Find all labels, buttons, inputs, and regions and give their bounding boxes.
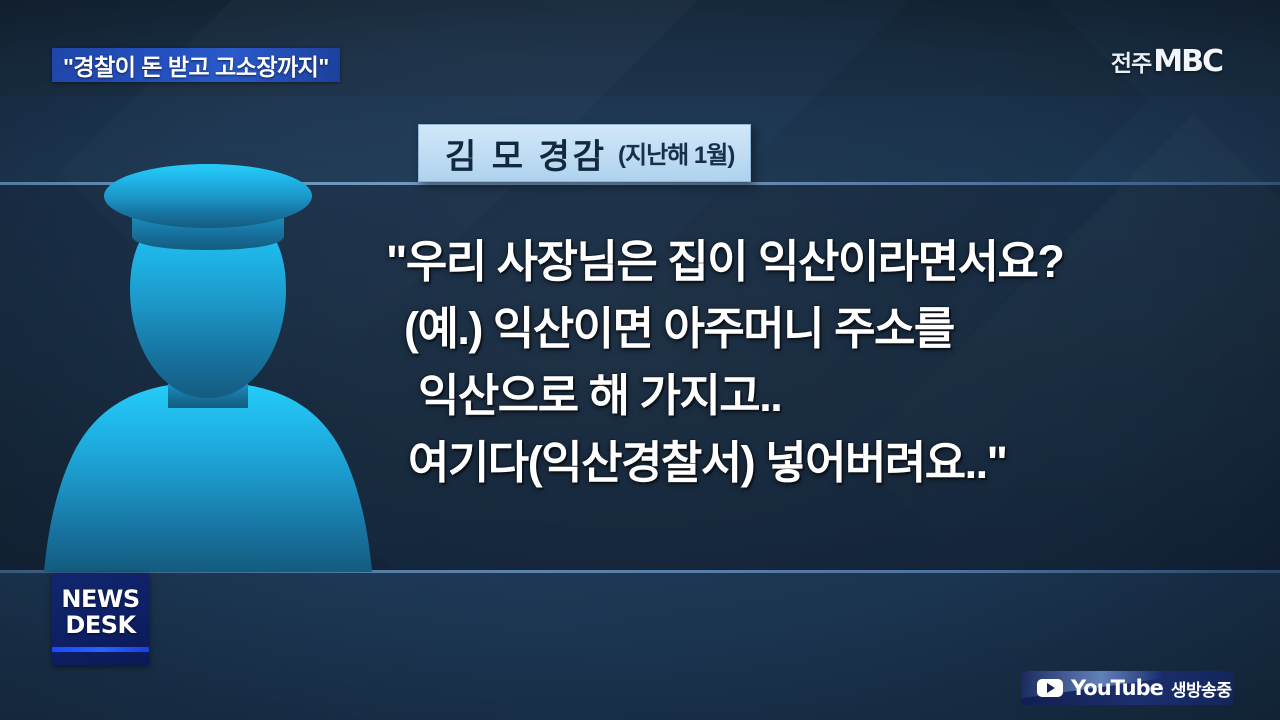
live-status-label: 생방송중 xyxy=(1171,676,1232,701)
newsdesk-logo-accent-bar xyxy=(52,647,149,652)
quote-line: 익산으로 해 가지고.. xyxy=(386,362,1266,429)
speaker-nameplate: 김 모 경감 (지난해 1월) xyxy=(418,124,751,182)
quote-line: "우리 사장님은 집이 익산이라면서요? xyxy=(386,228,1266,295)
newsdesk-logo-line-2: DESK xyxy=(65,612,135,638)
station-region-label: 전주 xyxy=(1111,44,1151,78)
newsdesk-program-logo: NEWS DESK xyxy=(52,573,149,665)
speaker-date-note: (지난해 1월) xyxy=(618,135,734,172)
newsdesk-logo-line-1: NEWS xyxy=(61,587,139,612)
speaker-name: 김 모 경감 xyxy=(445,129,607,178)
quote-line: (예.) 익산이면 아주머니 주소를 xyxy=(386,295,1266,362)
station-network-label: MBC xyxy=(1153,44,1222,79)
quote-block: "우리 사장님은 집이 익산이라면서요? (예.) 익산이면 아주머니 주소를 … xyxy=(386,228,1266,496)
station-logo: 전주 MBC xyxy=(1111,44,1222,79)
broadcast-screen: "경찰이 돈 받고 고소장까지" 전주 MBC xyxy=(0,0,1280,720)
headline-banner: "경찰이 돈 받고 고소장까지" xyxy=(52,48,340,82)
youtube-play-icon xyxy=(1037,679,1063,697)
youtube-wordmark: YouTube xyxy=(1071,676,1163,700)
quote-line: 여기다(익산경찰서) 넣어버려요.." xyxy=(386,429,1266,496)
headline-text: "경찰이 돈 받고 고소장까지" xyxy=(63,48,329,82)
youtube-live-badge: YouTube 생방송중 xyxy=(1021,671,1233,705)
police-officer-silhouette-icon xyxy=(18,140,398,572)
